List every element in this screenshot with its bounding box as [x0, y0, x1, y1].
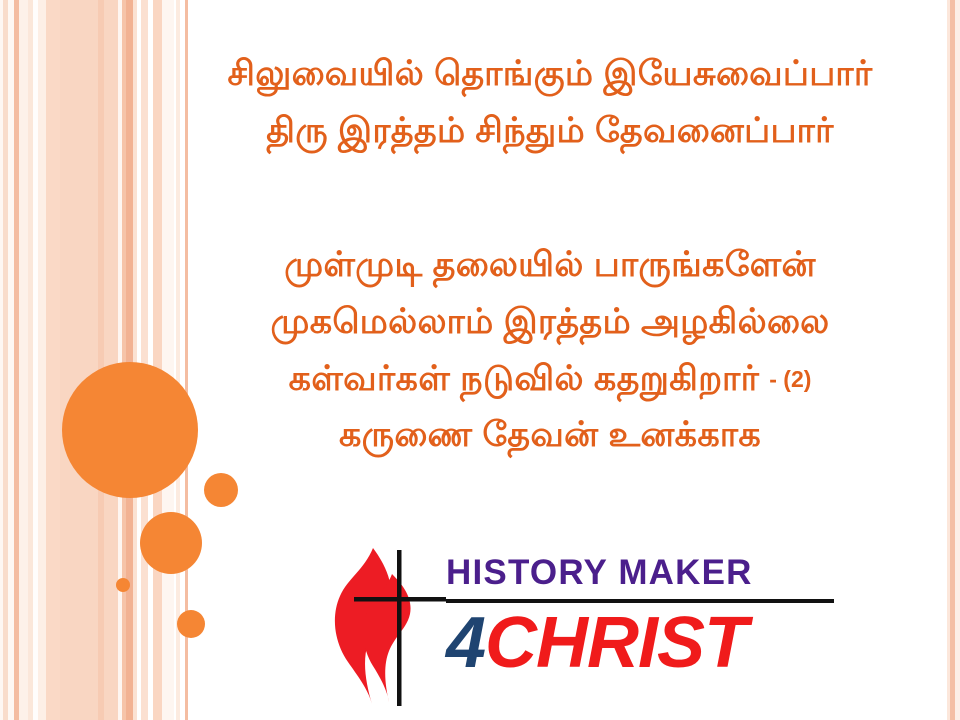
background-stripe [104, 0, 118, 720]
lyric-line: சிலுவையில் தொங்கும் இயேசுவைப்பார் [150, 46, 950, 103]
logo-top-line: HISTORY MAKER [446, 544, 838, 590]
cross-vertical-bar [397, 550, 402, 706]
background-stripe [46, 0, 60, 720]
background-stripe [19, 0, 28, 720]
logo-christ-word: CHRIST [485, 603, 747, 683]
background-stripe [126, 0, 133, 720]
lyric-line: முள்முடி தலையில் பாருங்களேன் [150, 237, 950, 294]
lyric-block: சிலுவையில் தொங்கும் இயேசுவைப்பார் திரு இ… [150, 46, 950, 464]
lyric-line: முகமெல்லாம் இரத்தம் அழகில்லை [150, 294, 950, 351]
lyric-line-text: கள்வர்கள் நடுவில் கதறுகிறார் [289, 359, 760, 398]
history-maker-4-christ-logo: HISTORY MAKER 4CHRIST [326, 544, 836, 709]
background-stripe [955, 0, 960, 720]
logo-numeral: 4 [446, 603, 485, 683]
cross-horizontal-bar [354, 597, 446, 602]
stanza-one: சிலுவையில் தொங்கும் இயேசுவைப்பார் திரு இ… [150, 46, 950, 159]
logo-bottom-line: 4CHRIST [446, 607, 838, 679]
slide-canvas: சிலுவையில் தொங்கும் இயேசுவைப்பார் திரு இ… [0, 0, 960, 720]
cross-and-flame-icon [326, 544, 446, 709]
lyric-line-with-repeat: கள்வர்கள் நடுவில் கதறுகிறார் - (2) [150, 351, 950, 408]
circle-tiny [116, 578, 130, 592]
lyric-line: கருணை தேவன் உனக்காக [150, 407, 950, 464]
circle-small [204, 473, 238, 507]
background-stripe [60, 0, 98, 720]
stanza-two: முள்முடி தலையில் பாருங்களேன் முகமெல்லாம்… [150, 237, 950, 464]
background-stripe [141, 0, 148, 720]
lyric-line: திரு இரத்தம் சிந்தும் தேவனைப்பார் [150, 103, 950, 160]
stanza-spacer [150, 159, 950, 237]
circle-xsmall [177, 610, 205, 638]
logo-wordmark: HISTORY MAKER 4CHRIST [446, 544, 838, 679]
background-stripe [38, 0, 46, 720]
circle-medium [140, 512, 202, 574]
repeat-marker: - (2) [769, 366, 811, 392]
